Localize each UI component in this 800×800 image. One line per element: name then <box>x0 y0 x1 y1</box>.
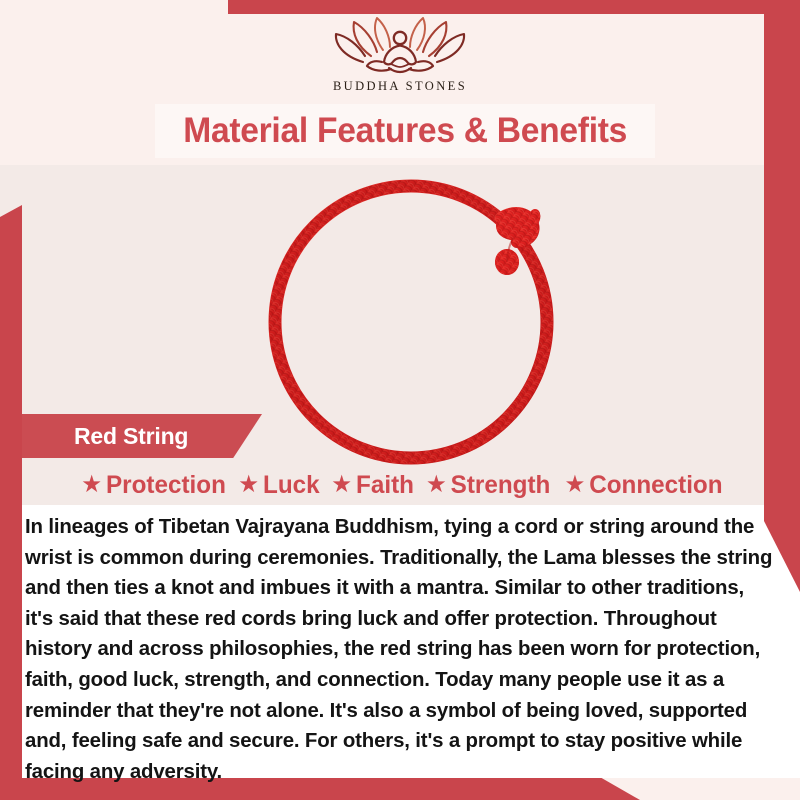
feature-item-strength: ★ Strength <box>426 471 550 500</box>
decorative-band-left <box>0 205 22 800</box>
feature-label: Connection <box>589 471 722 500</box>
feature-item-protection: ★ Protection <box>81 471 226 500</box>
brand-name: BUDDHA STONES <box>333 79 467 94</box>
page-title: Material Features & Benefits <box>183 111 627 151</box>
feature-item-connection: ★ Connection <box>564 471 722 500</box>
product-image-red-string-bracelet <box>255 170 585 470</box>
description-paragraph: In lineages of Tibetan Vajrayana Buddhis… <box>25 512 777 787</box>
feature-label: Faith <box>356 471 414 500</box>
star-icon: ★ <box>426 473 447 497</box>
decorative-band-top-mask <box>0 0 228 14</box>
page-title-band: Material Features & Benefits <box>155 104 655 158</box>
product-info-poster: BUDDHA STONES Material Features & Benefi… <box>0 0 800 800</box>
feature-item-faith: ★ Faith <box>332 471 415 500</box>
feature-item-luck: ★ Luck <box>239 471 320 500</box>
material-name: Red String <box>74 423 188 450</box>
star-icon: ★ <box>81 473 102 497</box>
feature-list: ★ Protection ★ Luck ★ Faith ★ Strength ★… <box>22 466 782 504</box>
feature-label: Luck <box>263 471 320 500</box>
star-icon: ★ <box>332 473 353 497</box>
material-ribbon: Red String <box>22 414 262 458</box>
star-icon: ★ <box>564 473 585 497</box>
lotus-meditation-figure-icon <box>327 14 473 76</box>
feature-label: Strength <box>451 471 551 500</box>
star-icon: ★ <box>239 473 260 497</box>
brand-logo: BUDDHA STONES <box>0 14 800 98</box>
feature-label: Protection <box>106 471 226 500</box>
